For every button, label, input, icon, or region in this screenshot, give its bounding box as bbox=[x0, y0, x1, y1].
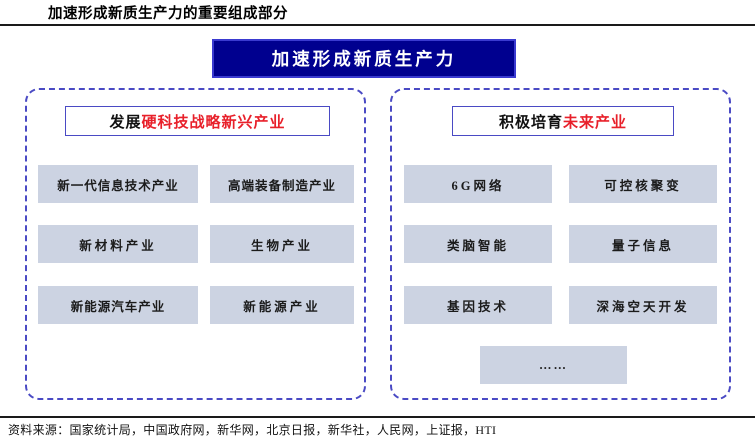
list-item: 高端装备制造产业 bbox=[210, 165, 354, 203]
chip-label: 类脑智能 bbox=[447, 235, 509, 254]
footer-divider bbox=[0, 416, 755, 418]
panel-right-header-prefix: 积极培育 bbox=[499, 111, 563, 132]
panel-left-header-accent: 硬科技战略新兴产业 bbox=[142, 111, 286, 132]
title-divider bbox=[0, 24, 755, 26]
list-item: 新一代信息技术产业 bbox=[38, 165, 198, 203]
main-banner-label: 加速形成新质生产力 bbox=[272, 46, 457, 71]
list-item: 基因技术 bbox=[404, 286, 552, 324]
list-item: 新能源汽车产业 bbox=[38, 286, 198, 324]
chip-label: 新一代信息技术产业 bbox=[57, 175, 179, 194]
list-item: 6G网络 bbox=[404, 165, 552, 203]
panel-strategic-industries: 发展硬科技战略新兴产业 新一代信息技术产业 高端装备制造产业 新材料产业 生物产… bbox=[25, 88, 366, 400]
panel-right-header-accent: 未来产业 bbox=[563, 111, 627, 132]
panel-future-industries: 积极培育未来产业 6G网络 可控核聚变 类脑智能 量子信息 基因技术 深海空天开… bbox=[390, 88, 731, 400]
list-item: 可控核聚变 bbox=[569, 165, 717, 203]
chip-label: 深海空天开发 bbox=[596, 296, 689, 315]
list-item: 深海空天开发 bbox=[569, 286, 717, 324]
chip-label: 基因技术 bbox=[447, 296, 509, 315]
chip-label: 量子信息 bbox=[612, 235, 674, 254]
list-item: 新材料产业 bbox=[38, 225, 198, 263]
chip-label: 生物产业 bbox=[251, 235, 313, 254]
main-banner: 加速形成新质生产力 bbox=[212, 39, 516, 78]
source-note: 资料来源：国家统计局，中国政府网，新华网，北京日报，新华社，人民网，上证报，HT… bbox=[8, 421, 496, 438]
list-item: 类脑智能 bbox=[404, 225, 552, 263]
list-item: 生物产业 bbox=[210, 225, 354, 263]
panel-left-header: 发展硬科技战略新兴产业 bbox=[65, 106, 330, 136]
chip-label: 新材料产业 bbox=[79, 235, 157, 254]
chip-label: 新能源汽车产业 bbox=[71, 296, 166, 315]
list-item: 新能源产业 bbox=[210, 286, 354, 324]
page-title: 加速形成新质生产力的重要组成部分 bbox=[48, 2, 288, 23]
chip-label: 可控核聚变 bbox=[604, 175, 682, 194]
chip-label: 高端装备制造产业 bbox=[228, 175, 336, 194]
chip-label: 新能源产业 bbox=[243, 296, 321, 315]
chip-label: 6G网络 bbox=[452, 175, 505, 194]
panel-left-header-prefix: 发展 bbox=[109, 111, 141, 132]
panel-right-header: 积极培育未来产业 bbox=[452, 106, 674, 136]
list-item: 量子信息 bbox=[569, 225, 717, 263]
chip-label: …… bbox=[539, 358, 568, 373]
list-item-more: …… bbox=[480, 346, 627, 384]
